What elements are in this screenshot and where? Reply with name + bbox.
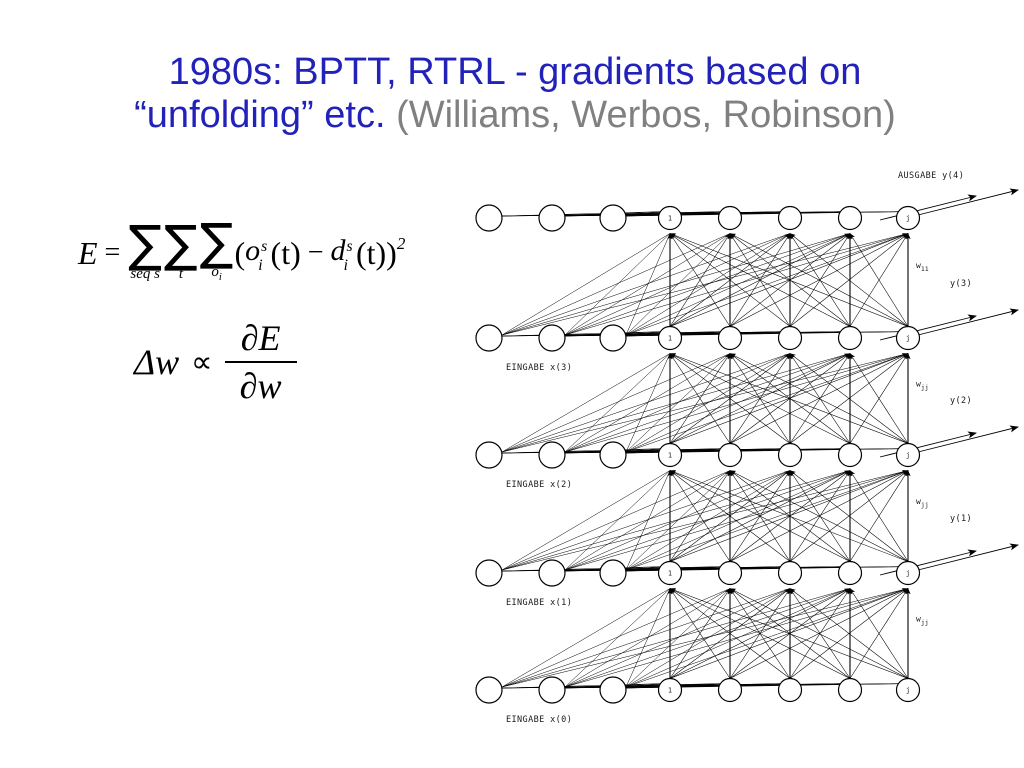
edge-input-to-next-slice (626, 354, 908, 453)
input-node (600, 677, 626, 703)
unit-node (719, 207, 742, 230)
output-arrow (914, 310, 1018, 336)
weight-subscript: jj (921, 384, 929, 392)
input-node (476, 677, 502, 703)
unit-node (719, 327, 742, 350)
sum-seq-s: ∑ seq s (128, 224, 162, 283)
input-node (539, 205, 565, 231)
edge-input-to-next-slice (565, 354, 670, 453)
sum-t: ∑ t (164, 224, 198, 283)
fraction-numerator: ∂E (233, 317, 289, 361)
error-equation: E = ∑ seq s ∑ t ∑ oi ( osi (t) − dsi (t)… (78, 205, 498, 301)
input-node (539, 442, 565, 468)
open-paren: ( (234, 235, 245, 272)
output-layer-label: AUSGABE y(4) (898, 171, 964, 181)
weight-label: wjj (916, 615, 929, 627)
edge-input-to-next-slice (565, 354, 850, 453)
edge-input-to-next-slice (626, 471, 790, 571)
output-arrow (914, 190, 1018, 216)
input-node (600, 205, 626, 231)
edge-input-to-next-slice (502, 234, 790, 336)
output-arrow (914, 545, 1018, 571)
input-node (476, 325, 502, 351)
edge-input-to-next-slice (626, 589, 790, 688)
error-equals: = (98, 237, 128, 269)
input-node (539, 325, 565, 351)
sigma-icon: ∑ (164, 224, 198, 265)
network-nodes (476, 205, 920, 703)
edge-input-to-next-slice (626, 589, 908, 688)
edge-input-to-next-slice (565, 589, 850, 688)
edge-input-to-next-slice (565, 471, 850, 571)
unit-node (779, 207, 802, 230)
input-node (600, 325, 626, 351)
sum-t-subscript: t (179, 266, 183, 283)
unit-node (839, 207, 862, 230)
input-node (476, 442, 502, 468)
partial-derivative-fraction: ∂E ∂w (225, 317, 297, 407)
unit-node-label-last: j (906, 452, 910, 460)
input-node (539, 677, 565, 703)
edge-input-to-next-slice (565, 589, 790, 688)
input-layer-label: EINGABE x(1) (506, 598, 572, 608)
title-line-1: 1980s: BPTT, RTRL - gradients based on (60, 52, 970, 93)
edge-input-to-next-slice (626, 354, 790, 453)
unit-node-label-first: 1 (668, 687, 672, 695)
unit-node (779, 562, 802, 585)
term-output-arg: (t) (271, 235, 301, 272)
unit-node (719, 444, 742, 467)
square-exponent: 2 (397, 234, 406, 254)
edge-input-to-next-slice (565, 589, 670, 688)
unit-node-label-first: 1 (668, 570, 672, 578)
unit-node-label-last: j (906, 570, 910, 578)
unit-node (779, 444, 802, 467)
network-edges (502, 190, 1018, 688)
unit-node (719, 562, 742, 585)
edge-input-to-next-slice (626, 234, 908, 336)
unit-node (779, 679, 802, 702)
edge-input-to-next-slice (502, 234, 670, 336)
edge-input-to-next-slice (626, 354, 670, 453)
title-authors (386, 94, 397, 136)
input-layer-label: EINGABE x(2) (506, 480, 572, 490)
sigma-icon: ∑ (128, 224, 162, 265)
edge-input-to-next-slice (626, 471, 670, 571)
output-arrow (914, 427, 1018, 453)
weight-label: w11 (916, 261, 929, 273)
page-title: 1980s: BPTT, RTRL - gradients based on “… (60, 52, 970, 136)
close-paren: ) (386, 235, 397, 272)
edge-input-to-next-slice (626, 234, 850, 336)
minus-sign: − (301, 237, 331, 269)
unit-node (839, 679, 862, 702)
input-node (539, 560, 565, 586)
proportional-icon: ∝ (179, 345, 224, 380)
input-node (600, 442, 626, 468)
weight-subscript: 11 (921, 265, 929, 273)
network-svg: 1j1j1j1j1jAUSGABE y(4)y(3)y(2)y(1)w11wjj… (458, 160, 1024, 760)
weight-update-equation: Δw ∝ ∂E ∂w (134, 317, 498, 407)
unit-node (839, 562, 862, 585)
edge-input-to-next-slice (565, 234, 670, 336)
sigma-icon: ∑ (200, 222, 234, 263)
fraction-denominator: ∂w (232, 363, 290, 407)
title-authors-text: (Williams, Werbos, Robinson) (396, 94, 896, 136)
unit-node-label-last: j (906, 335, 910, 343)
input-node (476, 560, 502, 586)
unit-node (779, 327, 802, 350)
sum-oi: ∑ oi (200, 222, 234, 284)
edge-input-to-next-slice (626, 234, 730, 336)
edge-input-to-next-slice (565, 234, 850, 336)
sum-seq-s-subscript: seq s (130, 266, 160, 283)
edge-input-to-next-slice (565, 354, 790, 453)
equations-block: E = ∑ seq s ∑ t ∑ oi ( osi (t) − dsi (t)… (78, 205, 498, 407)
unit-node-label-last: j (906, 215, 910, 223)
input-node (476, 205, 502, 231)
unit-node-label-first: 1 (668, 335, 672, 343)
unfolded-network-diagram: 1j1j1j1j1jAUSGABE y(4)y(3)y(2)y(1)w11wjj… (458, 160, 1024, 760)
output-signal-label: y(1) (950, 514, 972, 524)
term-target-arg: (t) (356, 235, 386, 272)
input-layer-label: EINGABE x(3) (506, 363, 572, 373)
error-lhs: E (78, 235, 98, 272)
title-line-2: “unfolding” etc. (Williams, Werbos, Robi… (60, 95, 970, 136)
title-line-2-main: “unfolding” etc. (134, 94, 385, 136)
unit-node-label-first: 1 (668, 452, 672, 460)
input-node (600, 560, 626, 586)
delta-w: Δw (134, 341, 179, 383)
term-target: dsi (331, 234, 356, 272)
output-signal-label: y(2) (950, 396, 972, 406)
edge-input-to-next-slice (626, 471, 908, 571)
edge-input-to-next-slice (565, 471, 670, 571)
unit-node (839, 327, 862, 350)
slide-canvas: 1980s: BPTT, RTRL - gradients based on “… (0, 0, 1024, 768)
unit-node-label-last: j (906, 687, 910, 695)
edge-input-to-next-slice (626, 234, 670, 336)
term-output: osi (245, 234, 270, 272)
edge-input-to-next-slice (565, 471, 790, 571)
output-signal-label: y(3) (950, 279, 972, 289)
edge-input-to-next-slice (626, 234, 790, 336)
unit-node-label-first: 1 (668, 215, 672, 223)
output-arrow (880, 196, 976, 220)
input-layer-label: EINGABE x(0) (506, 715, 572, 725)
unit-node (719, 679, 742, 702)
edge-input-to-next-slice (626, 589, 670, 688)
weight-label: wjj (916, 380, 929, 392)
sum-oi-subscript: oi (211, 264, 221, 284)
edge-input-to-next-slice (626, 471, 850, 571)
edge-input-to-next-slice (626, 471, 730, 571)
weight-subscript: jj (921, 501, 929, 509)
unit-node (839, 444, 862, 467)
edge-input-to-next-slice (565, 234, 790, 336)
weight-subscript: jj (921, 619, 929, 627)
weight-label: wjj (916, 497, 929, 509)
edge-input-to-next-slice (502, 234, 850, 336)
